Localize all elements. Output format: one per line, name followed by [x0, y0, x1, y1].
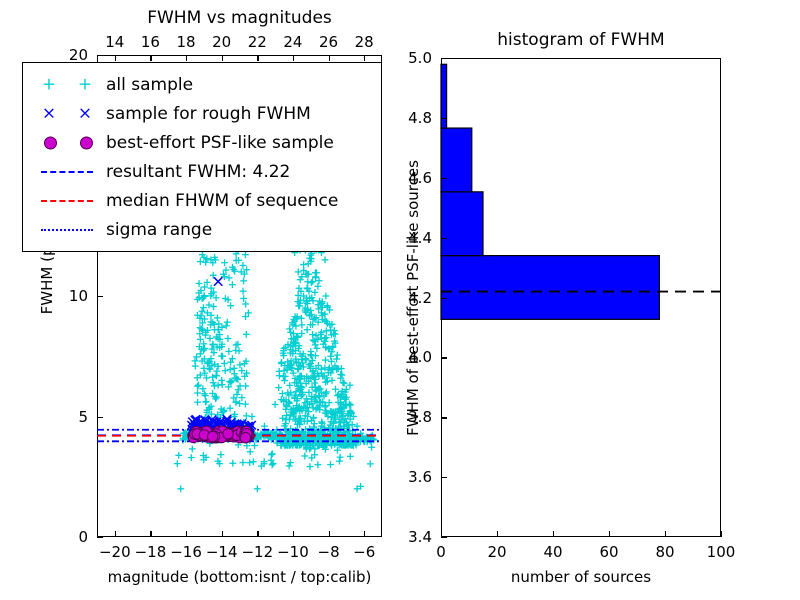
tick-mark — [186, 531, 187, 537]
tick-mark — [364, 531, 365, 537]
legend-item-label: sample for rough FWHM — [106, 104, 311, 124]
histogram-xtick-label: 100 — [707, 543, 736, 561]
tick-mark — [115, 55, 116, 61]
legend-item[interactable]: sigma range — [23, 216, 381, 244]
legend-item[interactable]: sample for rough FWHM×× — [23, 100, 381, 128]
scatter-top-xtick-label: 24 — [283, 33, 302, 51]
scatter-ytick-label: 0 — [78, 528, 88, 546]
tick-mark — [97, 417, 103, 418]
plus-icon: + — [42, 77, 56, 94]
tick-mark — [222, 531, 223, 537]
scatter-top-xtick-label: 26 — [319, 33, 338, 51]
plot-legend: all sample++sample for rough FWHM××best-… — [22, 62, 382, 252]
histogram-ytick-label: 3.6 — [408, 468, 432, 486]
histogram-ytick-label: 3.4 — [408, 528, 432, 546]
scatter-xtick-label: −20 — [99, 543, 131, 561]
plus-icon: + — [78, 77, 92, 94]
tick-mark — [293, 55, 294, 61]
scatter-xtick-label: −8 — [318, 543, 340, 561]
tick-mark — [441, 238, 447, 239]
tick-mark — [186, 55, 187, 61]
tick-mark — [97, 537, 103, 538]
tick-mark — [150, 531, 151, 537]
dashed-line-icon — [41, 171, 93, 173]
figure-canvas: FWHM vs magnitudes magnitude (bottom:isn… — [0, 0, 800, 600]
scatter-xtick-label: −18 — [135, 543, 167, 561]
tick-mark — [364, 55, 365, 61]
scatter-plot-title: FWHM vs magnitudes — [97, 8, 382, 28]
tick-mark — [97, 55, 103, 56]
tick-mark — [441, 298, 447, 299]
tick-mark — [441, 178, 447, 179]
tick-mark — [293, 531, 294, 537]
tick-mark — [721, 531, 722, 537]
cross-icon: × — [78, 106, 92, 123]
tick-mark — [441, 58, 447, 59]
histogram-xtick-label: 0 — [436, 543, 446, 561]
scatter-ytick-label: 10 — [69, 287, 88, 305]
scatter-top-xtick-label: 16 — [141, 33, 160, 51]
scatter-xtick-label: −12 — [241, 543, 273, 561]
histogram-xaxis-label: number of sources — [441, 568, 721, 586]
histogram-ytick-label: 3.8 — [408, 408, 432, 426]
tick-mark — [553, 531, 554, 537]
tick-mark — [609, 531, 610, 537]
scatter-xtick-label: −14 — [206, 543, 238, 561]
legend-item[interactable]: all sample++ — [23, 71, 381, 99]
tick-mark — [329, 531, 330, 537]
dashed-line-icon — [41, 200, 93, 202]
scatter-ytick-label: 5 — [78, 408, 88, 426]
dot-icon — [44, 137, 57, 150]
histogram-ytick-label: 5.0 — [408, 49, 432, 67]
dot-icon — [80, 137, 93, 150]
cross-icon: × — [42, 106, 56, 123]
scatter-xaxis-label: magnitude (bottom:isnt / top:calib) — [97, 568, 382, 586]
scatter-xtick-label: −6 — [353, 543, 375, 561]
dashdot-line-icon — [41, 229, 93, 231]
histogram-ytick-label: 4.4 — [408, 229, 432, 247]
scatter-top-xtick-label: 14 — [105, 33, 124, 51]
tick-mark — [441, 357, 447, 358]
histogram-ytick-label: 4.8 — [408, 109, 432, 127]
tick-mark — [441, 477, 447, 478]
legend-item-label: best-effort PSF-like sample — [106, 133, 334, 153]
tick-mark — [329, 55, 330, 61]
histogram-xtick-label: 20 — [487, 543, 506, 561]
scatter-xtick-label: −10 — [277, 543, 309, 561]
histogram-ytick-label: 4.2 — [408, 289, 432, 307]
scatter-xtick-label: −16 — [170, 543, 202, 561]
legend-item[interactable]: best-effort PSF-like sample — [23, 129, 381, 157]
scatter-top-xtick-label: 20 — [212, 33, 231, 51]
legend-item[interactable]: median FHWM of sequence — [23, 187, 381, 215]
legend-item[interactable]: resultant FWHM: 4.22 — [23, 158, 381, 186]
tick-mark — [441, 537, 447, 538]
tick-mark — [441, 417, 447, 418]
tick-mark — [257, 531, 258, 537]
tick-mark — [150, 55, 151, 61]
tick-mark — [665, 531, 666, 537]
legend-item-label: resultant FWHM: 4.22 — [106, 162, 290, 182]
scatter-top-xtick-label: 18 — [177, 33, 196, 51]
histogram-axes — [441, 58, 721, 537]
tick-mark — [115, 531, 116, 537]
tick-mark — [441, 118, 447, 119]
histogram-ytick-label: 4.6 — [408, 169, 432, 187]
scatter-top-xtick-label: 28 — [355, 33, 374, 51]
legend-item-label: median FHWM of sequence — [106, 191, 338, 211]
legend-item-label: sigma range — [106, 220, 212, 240]
tick-mark — [257, 55, 258, 61]
tick-mark — [222, 55, 223, 61]
tick-mark — [497, 531, 498, 537]
legend-item-label: all sample — [106, 75, 193, 95]
scatter-top-xtick-label: 22 — [248, 33, 267, 51]
tick-mark — [97, 296, 103, 297]
histogram-xtick-label: 60 — [599, 543, 618, 561]
histogram-title: histogram of FWHM — [441, 30, 721, 50]
histogram-ytick-label: 4.0 — [408, 348, 432, 366]
histogram-xtick-label: 40 — [543, 543, 562, 561]
histogram-xtick-label: 80 — [655, 543, 674, 561]
